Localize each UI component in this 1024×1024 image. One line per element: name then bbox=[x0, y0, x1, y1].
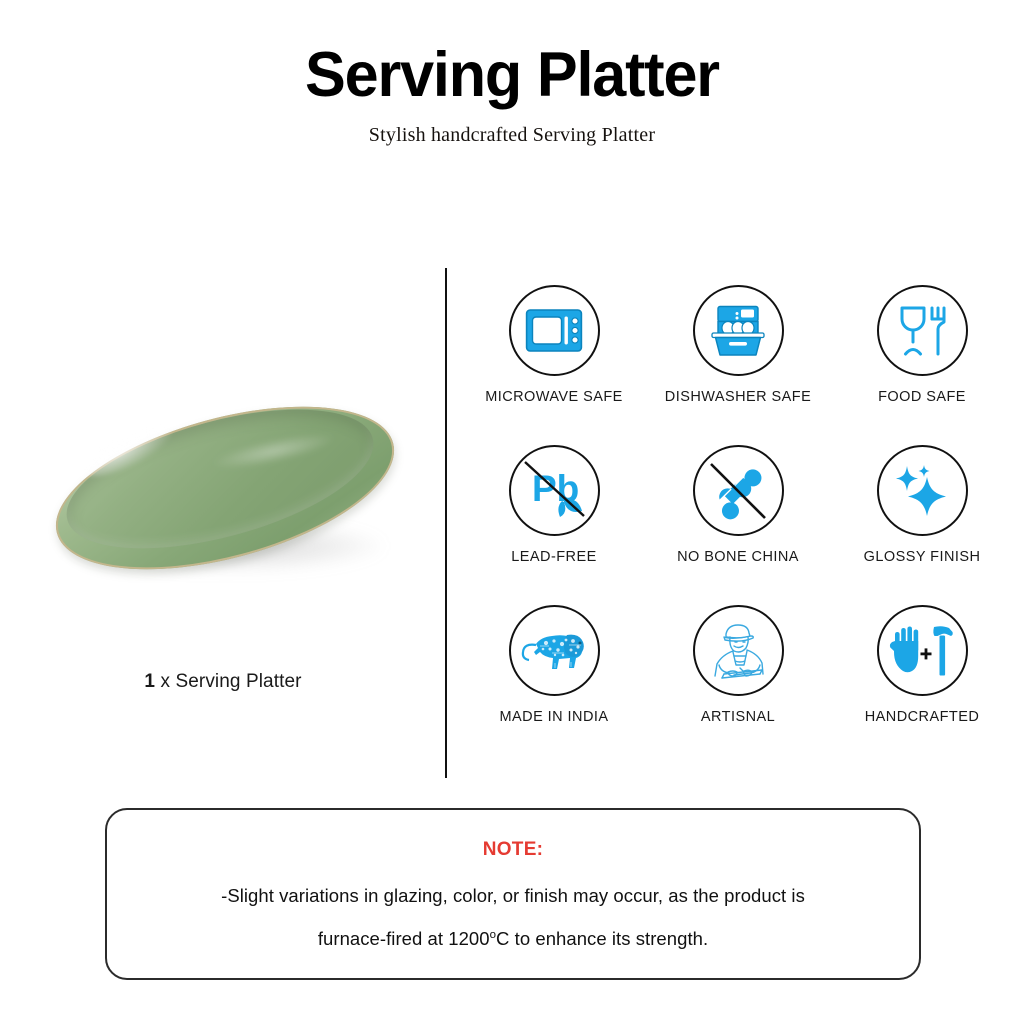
note-line-2: furnace-fired at 1200oC to enhance its s… bbox=[318, 930, 708, 949]
feature-food-safe: FOOD SAFE bbox=[830, 285, 1014, 445]
note-line-1: -Slight variations in glazing, color, or… bbox=[221, 887, 805, 906]
feature-lead-free: Pb LEAD-FREE bbox=[462, 445, 646, 605]
header: Serving Platter Stylish handcrafted Serv… bbox=[0, 42, 1024, 147]
feature-circle bbox=[693, 605, 784, 696]
dishwasher-icon bbox=[710, 305, 766, 357]
feature-circle bbox=[877, 285, 968, 376]
feature-artisnal: ARTISNAL bbox=[646, 605, 830, 765]
note-title: NOTE: bbox=[483, 839, 544, 861]
feature-no-bone-china: NO BONE CHINA bbox=[646, 445, 830, 605]
lion-icon bbox=[519, 628, 589, 674]
craftsman-icon bbox=[704, 620, 772, 682]
feature-circle bbox=[509, 285, 600, 376]
feature-label: MADE IN INDIA bbox=[500, 709, 609, 725]
page-subtitle: Stylish handcrafted Serving Platter bbox=[0, 124, 1024, 147]
feature-circle bbox=[693, 285, 784, 376]
product-caption-text: x Serving Platter bbox=[155, 671, 301, 692]
feature-dishwasher-safe: DISHWASHER SAFE bbox=[646, 285, 830, 445]
note-line-2-before: furnace-fired at 1200 bbox=[318, 928, 490, 949]
feature-label: FOOD SAFE bbox=[878, 389, 966, 405]
note-line-2-after: C to enhance its strength. bbox=[496, 928, 708, 949]
feature-label: ARTISNAL bbox=[701, 709, 775, 725]
feature-circle bbox=[877, 445, 968, 536]
product-caption: 1 x Serving Platter bbox=[18, 671, 428, 693]
feature-grid: MICROWAVE SAFE DISHWASHER SAFE bbox=[462, 285, 1014, 765]
feature-label: DISHWASHER SAFE bbox=[665, 389, 811, 405]
feature-handcrafted: HANDCRAFTED bbox=[830, 605, 1014, 765]
no-lead-pb-icon: Pb bbox=[518, 455, 590, 527]
product-image bbox=[18, 400, 428, 615]
sparkle-icon bbox=[893, 463, 951, 519]
feature-label: HANDCRAFTED bbox=[865, 709, 980, 725]
feature-label: MICROWAVE SAFE bbox=[485, 389, 623, 405]
no-bone-icon bbox=[701, 454, 775, 528]
feature-label: NO BONE CHINA bbox=[677, 549, 799, 565]
product-panel: 1 x Serving Platter bbox=[18, 400, 428, 720]
feature-circle bbox=[509, 605, 600, 696]
page-title: Serving Platter bbox=[15, 42, 1008, 108]
glass-and-fork-icon bbox=[896, 305, 948, 357]
feature-circle bbox=[693, 445, 784, 536]
note-box: NOTE: -Slight variations in glazing, col… bbox=[105, 808, 921, 980]
feature-microwave-safe: MICROWAVE SAFE bbox=[462, 285, 646, 445]
feature-circle bbox=[877, 605, 968, 696]
feature-label: GLOSSY FINISH bbox=[864, 549, 981, 565]
feature-circle: Pb bbox=[509, 445, 600, 536]
hand-plus-hammer-icon bbox=[889, 625, 955, 677]
feature-made-in-india: MADE IN INDIA bbox=[462, 605, 646, 765]
feature-glossy-finish: GLOSSY FINISH bbox=[830, 445, 1014, 605]
product-quantity: 1 bbox=[144, 671, 155, 692]
feature-label: LEAD-FREE bbox=[511, 549, 596, 565]
microwave-icon bbox=[525, 308, 583, 354]
vertical-divider bbox=[445, 268, 447, 778]
